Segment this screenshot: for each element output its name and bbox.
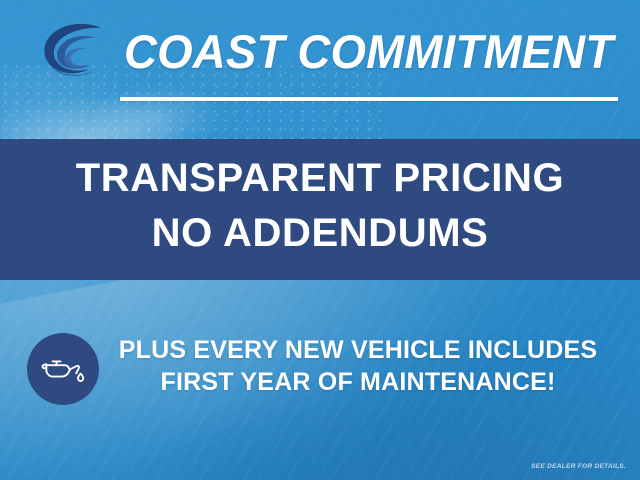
coast-wave-swirl-logo-icon: [38, 22, 112, 84]
headline-line-no-addendums: NO ADDENDUMS: [0, 210, 640, 256]
headline-band: TRANSPARENT PRICING NO ADDENDUMS: [0, 139, 640, 280]
header-divider: [120, 97, 618, 101]
page-title: COAST COMMITMENT: [124, 22, 609, 84]
promo-text-block: PLUS EVERY NEW VEHICLE INCLUDES FIRST YE…: [108, 334, 608, 398]
promo-line-maintenance: FIRST YEAR OF MAINTENANCE!: [108, 366, 608, 398]
banner-header: COAST COMMITMENT: [0, 0, 640, 110]
coast-commitment-banner: COAST COMMITMENT TRANSPARENT PRICING NO …: [0, 0, 640, 480]
oil-can-icon: [40, 354, 86, 384]
headline-line-transparent-pricing: TRANSPARENT PRICING: [0, 155, 640, 201]
oil-can-badge: [27, 333, 99, 405]
promo-row: PLUS EVERY NEW VEHICLE INCLUDES FIRST YE…: [0, 330, 640, 410]
promo-line-includes: PLUS EVERY NEW VEHICLE INCLUDES: [108, 334, 608, 366]
disclaimer-text: SEE DEALER FOR DETAILS.: [531, 463, 626, 470]
